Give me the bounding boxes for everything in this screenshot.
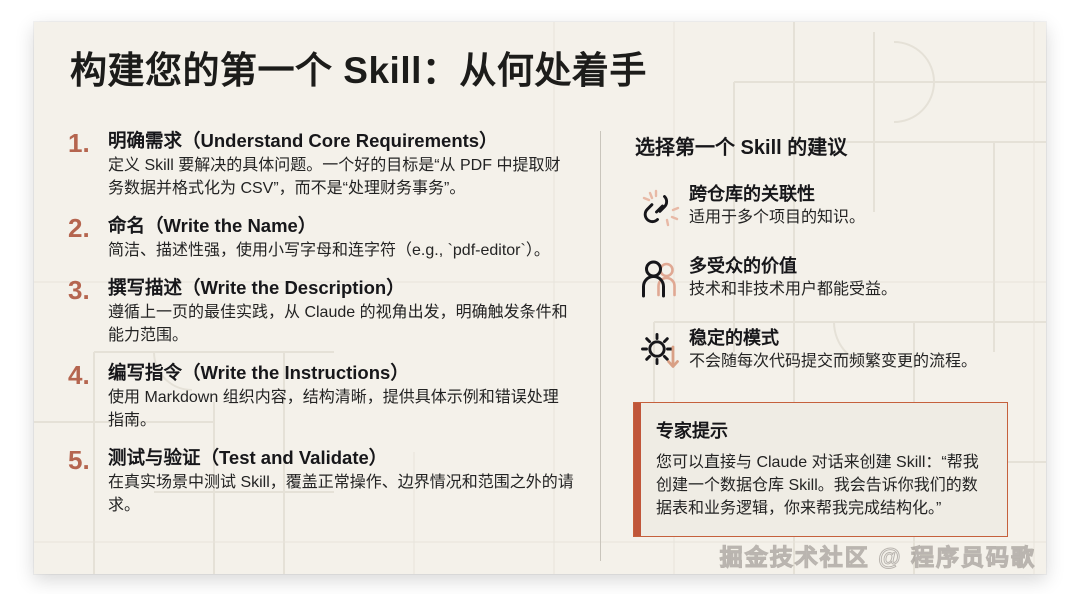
step-title: 命名（Write the Name）: [108, 214, 574, 237]
slide-content: 构建您的第一个 Skill：从何处着手 1. 明确需求（Understand C…: [34, 22, 1046, 574]
step-title: 明确需求（Understand Core Requirements）: [108, 129, 574, 152]
step-description: 使用 Markdown 组织内容，结构清晰，提供具体示例和错误处理指南。: [108, 386, 574, 432]
step-description: 简洁、描述性强，使用小写字母和连字符（e.g., `pdf-editor`）。: [108, 239, 574, 262]
expert-tip-title: 专家提示: [656, 417, 989, 443]
step-number: 4.: [68, 361, 108, 432]
step-item: 5. 测试与验证（Test and Validate） 在真实场景中测试 Ski…: [68, 446, 574, 517]
recommendation-item: 稳定的模式 不会随每次代码提交而频繁变更的流程。: [633, 326, 1008, 376]
step-body: 命名（Write the Name） 简洁、描述性强，使用小写字母和连字符（e.…: [108, 214, 574, 262]
slide-frame: 构建您的第一个 Skill：从何处着手 1. 明确需求（Understand C…: [34, 22, 1046, 574]
step-title: 撰写描述（Write the Description）: [108, 276, 574, 299]
expert-tip-accent-bar: [634, 403, 641, 537]
step-item: 3. 撰写描述（Write the Description） 遵循上一页的最佳实…: [68, 276, 574, 347]
recommendation-item: 跨仓库的关联性 适用于多个项目的知识。: [633, 182, 1008, 232]
recommendation-text: 跨仓库的关联性 适用于多个项目的知识。: [689, 182, 1008, 230]
step-title: 编写指令（Write the Instructions）: [108, 361, 574, 384]
step-body: 明确需求（Understand Core Requirements） 定义 Sk…: [108, 129, 574, 200]
two-people-icon: [633, 256, 689, 304]
recommendation-item: 多受众的价值 技术和非技术用户都能受益。: [633, 254, 1008, 304]
recommendations-column: 选择第一个 Skill 的建议: [601, 129, 1008, 569]
step-description: 在真实场景中测试 Skill，覆盖正常操作、边界情况和范围之外的请求。: [108, 471, 574, 517]
recommendation-title: 稳定的模式: [689, 327, 1008, 350]
recommendation-description: 不会随每次代码提交而频繁变更的流程。: [689, 351, 1008, 373]
recommendation-text: 稳定的模式 不会随每次代码提交而频繁变更的流程。: [689, 326, 1008, 374]
slide-root: 构建您的第一个 Skill：从何处着手 1. 明确需求（Understand C…: [0, 0, 1080, 594]
recommendation-description: 技术和非技术用户都能受益。: [689, 279, 1008, 301]
step-number: 2.: [68, 214, 108, 262]
recommendation-title: 多受众的价值: [689, 255, 1008, 278]
step-item: 2. 命名（Write the Name） 简洁、描述性强，使用小写字母和连字符…: [68, 214, 574, 262]
step-body: 编写指令（Write the Instructions） 使用 Markdown…: [108, 361, 574, 432]
gear-down-arrow-icon: [633, 328, 689, 376]
step-item: 1. 明确需求（Understand Core Requirements） 定义…: [68, 129, 574, 200]
step-body: 撰写描述（Write the Description） 遵循上一页的最佳实践，从…: [108, 276, 574, 347]
steps-column: 1. 明确需求（Understand Core Requirements） 定义…: [68, 129, 600, 569]
recommendation-text: 多受众的价值 技术和非技术用户都能受益。: [689, 254, 1008, 302]
step-number: 3.: [68, 276, 108, 347]
step-number: 5.: [68, 446, 108, 517]
body-columns: 1. 明确需求（Understand Core Requirements） 定义…: [68, 129, 1008, 569]
step-body: 测试与验证（Test and Validate） 在真实场景中测试 Skill，…: [108, 446, 574, 517]
recommendation-title: 跨仓库的关联性: [689, 183, 1008, 206]
step-description: 定义 Skill 要解决的具体问题。一个好的目标是“从 PDF 中提取财务数据并…: [108, 154, 574, 200]
step-number: 1.: [68, 129, 108, 200]
step-title: 测试与验证（Test and Validate）: [108, 446, 574, 469]
step-item: 4. 编写指令（Write the Instructions） 使用 Markd…: [68, 361, 574, 432]
recommendation-description: 适用于多个项目的知识。: [689, 207, 1008, 229]
step-description: 遵循上一页的最佳实践，从 Claude 的视角出发，明确触发条件和能力范围。: [108, 301, 574, 347]
expert-tip-description: 您可以直接与 Claude 对话来创建 Skill：“帮我创建一个数据仓库 Sk…: [656, 451, 989, 521]
chain-link-sparkle-icon: [633, 184, 689, 232]
recommendations-heading: 选择第一个 Skill 的建议: [635, 131, 1008, 160]
page-title: 构建您的第一个 Skill：从何处着手: [70, 50, 1008, 93]
expert-tip-box: 专家提示 您可以直接与 Claude 对话来创建 Skill：“帮我创建一个数据…: [633, 402, 1008, 538]
